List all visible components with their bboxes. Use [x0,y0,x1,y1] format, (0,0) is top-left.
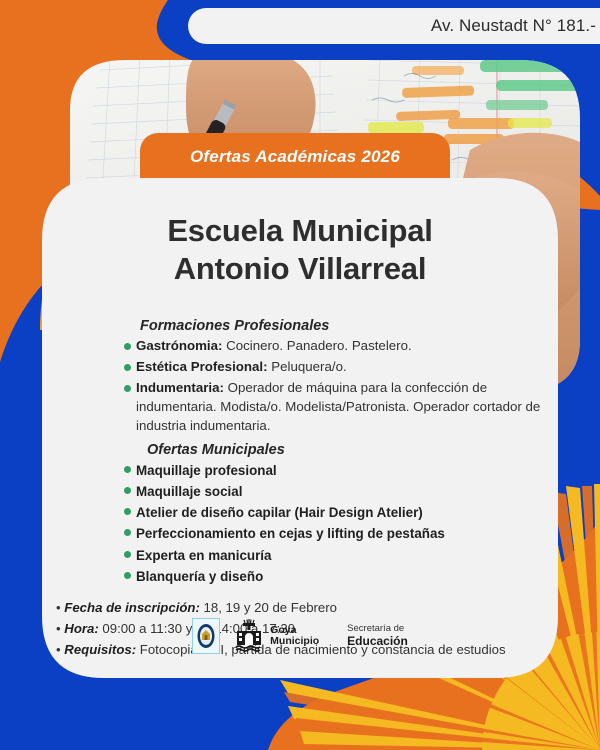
bullet-dot-icon [124,343,131,350]
provincial-coat-of-arms-icon [192,618,220,654]
item-label: Blanquería y diseño [136,569,263,584]
bullet-dot-icon [124,572,131,579]
list-item: Atelier de diseño capilar (Hair Design A… [42,503,558,522]
bullet-dot-icon [124,385,131,392]
list-item: Gastrónomia: Cocinero. Panadero. Pastele… [42,337,558,356]
list-item: Maquillaje social [42,482,558,501]
list-item: Estética Profesional: Peluquera/o. [42,358,558,377]
list-item: Indumentaria: Operador de máquina para l… [42,379,558,436]
detail-bullet-icon: • [56,600,61,615]
goya-municipio-logo: Goya Municipio [234,619,319,653]
secretaria-line-1: Secretaría de [347,624,408,635]
list-item: Perfeccionamiento en cejas y lifting de … [42,524,558,543]
municipality-building-icon [234,619,264,653]
section-heading-ofertas: Ofertas Municipales [147,442,558,458]
detail-row: • Fecha de inscripción: 18, 19 y 20 de F… [56,597,558,618]
item-label: Estética Profesional: [136,359,268,374]
list-item: Blanquería y diseño [42,567,558,586]
list-item: Experta en manicuría [42,546,558,565]
secretaria-educacion-logo: Secretaría de Educación [347,624,408,648]
bullet-dot-icon [124,466,131,473]
offers-banner: Ofertas Académicas 2026 [140,133,450,181]
goya-label-line-2: Municipio [270,636,319,647]
bullet-dot-icon [124,551,131,558]
section-heading-formaciones: Formaciones Profesionales [140,318,558,334]
title-line-2: Antonio Villarreal [42,250,558,288]
list-ofertas-municipales: Maquillaje profesional Maquillaje social… [42,461,558,585]
item-label: Gastrónomia: [136,338,222,353]
content-body: Formaciones Profesionales Gastrónomia: C… [42,318,558,661]
offers-banner-label: Ofertas Académicas 2026 [190,147,400,167]
item-label: Indumentaria: [136,380,224,395]
secretaria-line-2: Educación [347,635,408,648]
item-detail: Cocinero. Panadero. Pastelero. [226,338,412,353]
poster-root: Av. Neustadt N° 181.- Ofertas Académicas… [0,0,600,750]
bullet-dot-icon [124,529,131,536]
item-detail: Peluquera/o. [271,359,346,374]
bullet-dot-icon [124,487,131,494]
bullet-dot-icon [124,364,131,371]
list-formaciones: Gastrónomia: Cocinero. Panadero. Pastele… [42,337,558,435]
list-item: Maquillaje profesional [42,461,558,480]
logos-row: Goya Municipio Secretaría de Educación [42,618,558,654]
title-line-1: Escuela Municipal [42,212,558,250]
page-title: Escuela Municipal Antonio Villarreal [42,212,558,288]
item-label: Atelier de diseño capilar (Hair Design A… [136,505,423,520]
detail-label: Fecha de inscripción: [64,600,200,615]
item-label: Maquillaje profesional [136,463,277,478]
item-label: Perfeccionamiento en cejas y lifting de … [136,526,445,541]
bullet-dot-icon [124,508,131,515]
item-label: Maquillaje social [136,484,242,499]
detail-value: 18, 19 y 20 de Febrero [204,600,337,615]
main-card: Escuela Municipal Antonio Villarreal For… [42,178,558,678]
item-label: Experta en manicuría [136,548,271,563]
